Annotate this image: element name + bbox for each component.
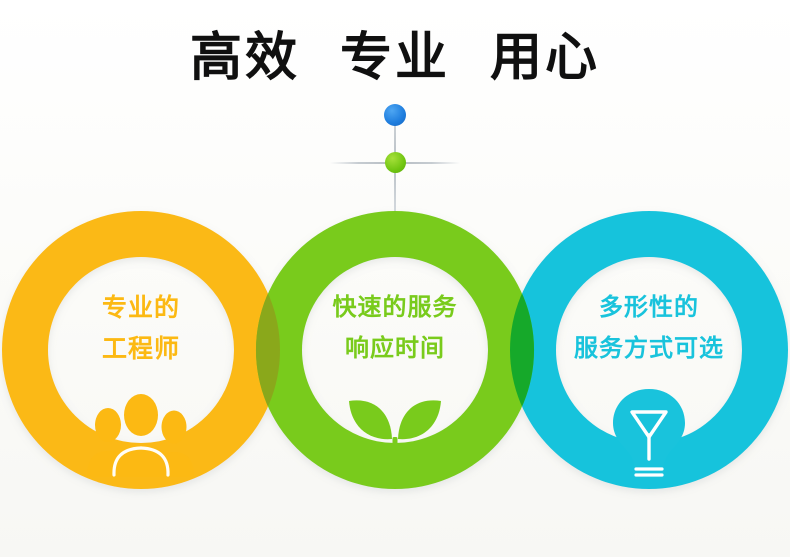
venn-node-response-time[interactable]: 快速的服务 响应时间 [256, 211, 534, 489]
venn-node-service-modes[interactable]: 多形性的 服务方式可选 [510, 211, 788, 489]
node-label-line1: 多形性的 [510, 287, 788, 328]
node-label-response-time: 快速的服务 响应时间 [256, 287, 534, 369]
lightbulb-icon [510, 387, 788, 483]
infographic-canvas: 高效专业用心 [0, 0, 790, 557]
node-label-engineers: 专业的 工程师 [2, 287, 280, 369]
node-label-service-modes: 多形性的 服务方式可选 [510, 287, 788, 369]
people-icon [2, 387, 280, 483]
node-label-line2: 工程师 [2, 328, 280, 369]
sprout-icon [256, 387, 534, 483]
node-label-line1: 专业的 [2, 287, 280, 328]
node-label-line2: 响应时间 [256, 328, 534, 369]
node-label-line1: 快速的服务 [256, 287, 534, 328]
node-label-line2: 服务方式可选 [510, 328, 788, 369]
venn-node-engineers[interactable]: 专业的 工程师 [2, 211, 280, 489]
